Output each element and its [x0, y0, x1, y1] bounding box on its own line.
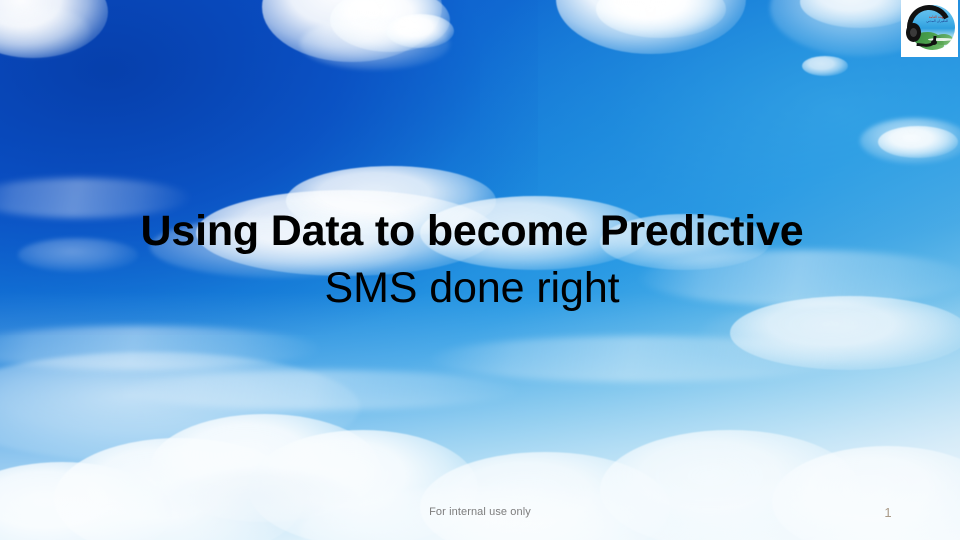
sky-bottom-haze — [0, 292, 960, 540]
title-line-1: Using Data to become Predictive — [58, 206, 886, 257]
footer-confidentiality-note: For internal use only — [0, 506, 960, 518]
headset-microphone-tip-icon — [931, 40, 937, 45]
slide-number: 1 — [879, 505, 897, 520]
presentation-slide: Using Data to become Predictive SMS done… — [0, 0, 960, 540]
title-line-2: SMS done right — [58, 263, 886, 314]
organization-logo: الهيئة العامة للطيران المدني — [901, 0, 958, 57]
slide-title: Using Data to become Predictive SMS done… — [58, 206, 886, 313]
headset-earpiece-inner — [910, 28, 917, 37]
